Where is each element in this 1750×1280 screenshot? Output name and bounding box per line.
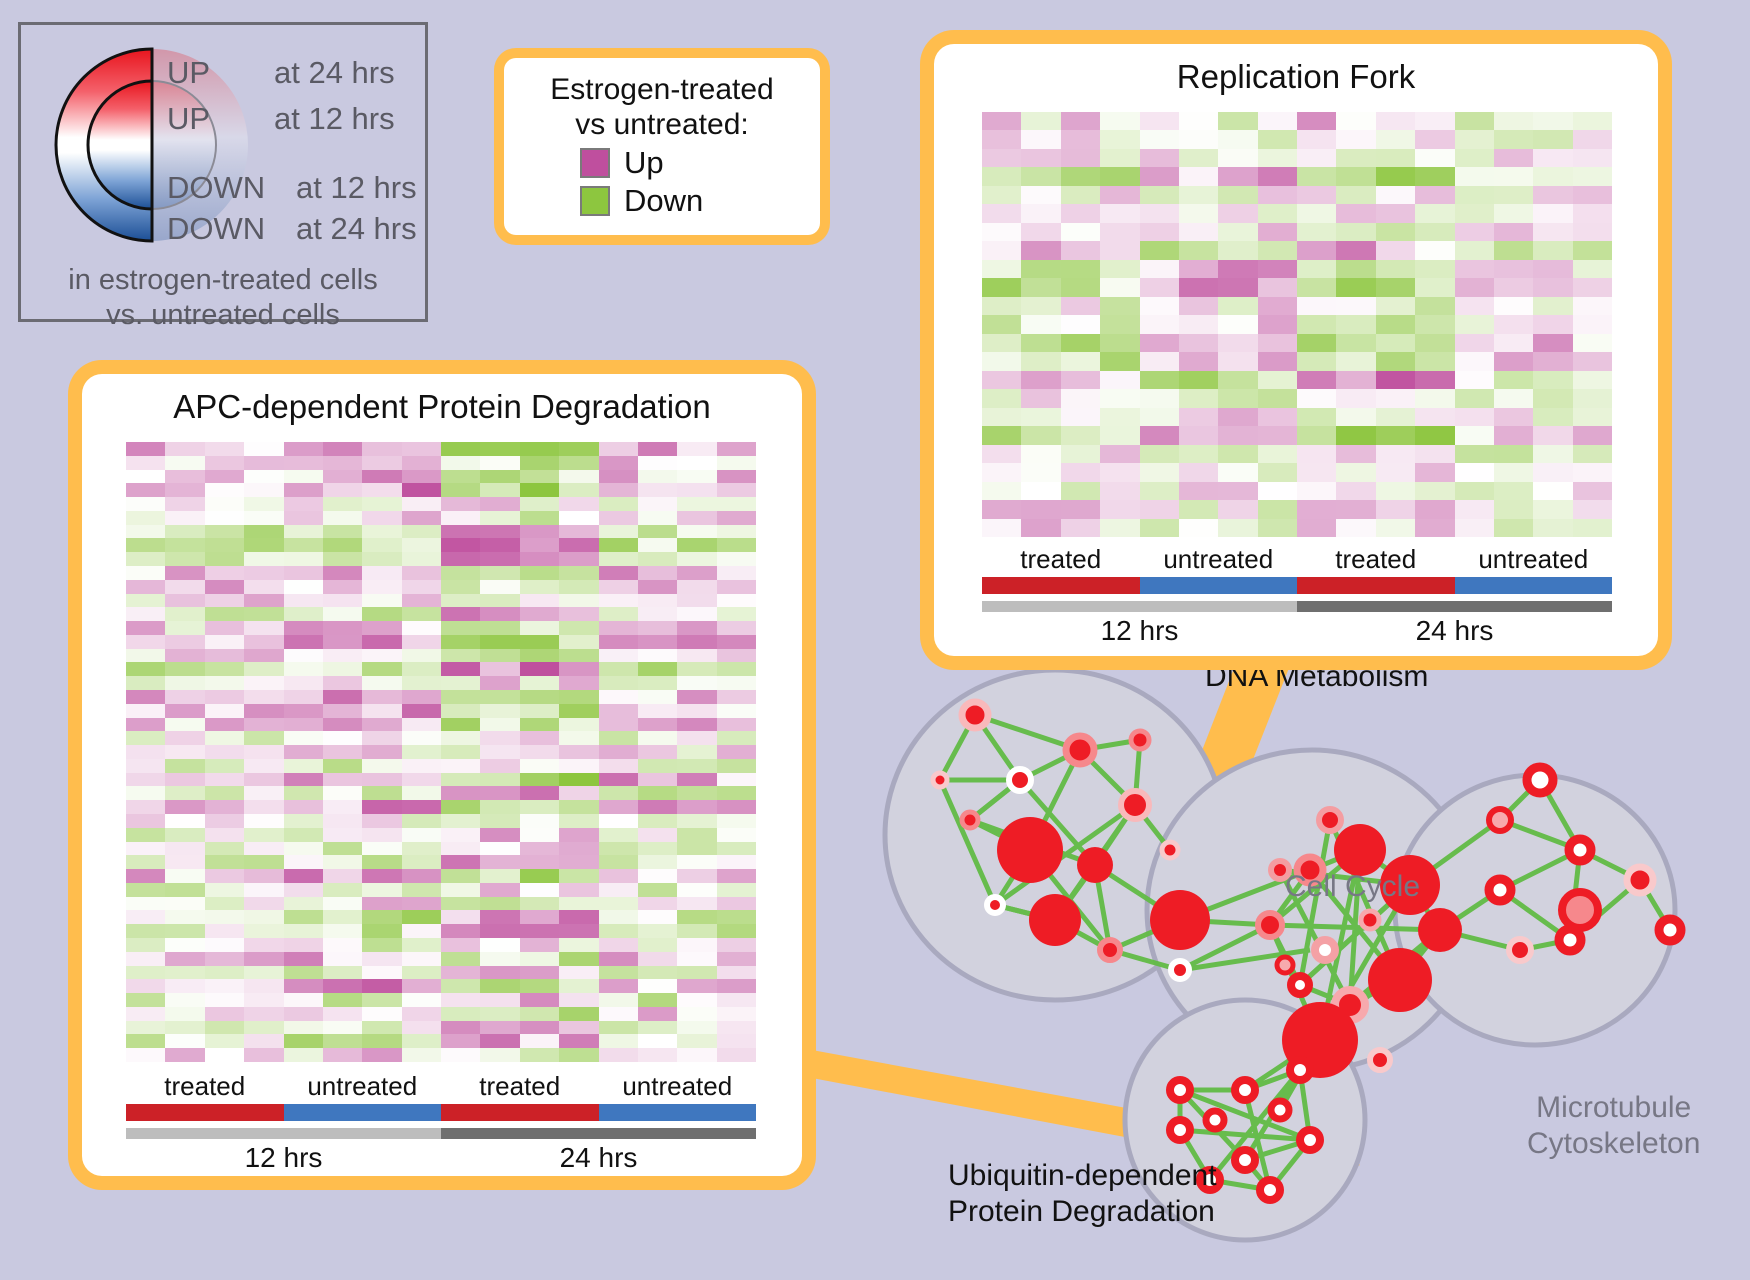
heatmap-cell <box>677 1021 716 1035</box>
heatmap-cell <box>1021 371 1060 389</box>
heatmap-cell <box>520 745 559 759</box>
heatmap-cell <box>677 814 716 828</box>
heatmap-cell <box>599 814 638 828</box>
heatmap-cell <box>1061 482 1100 500</box>
heatmap-cell <box>402 607 441 621</box>
heatmap-cell <box>677 676 716 690</box>
heatmap-cell <box>480 731 519 745</box>
heatmap-cell <box>362 759 401 773</box>
heatmap-cell <box>559 1048 598 1062</box>
heatmap-cell <box>323 607 362 621</box>
heatmap-cell <box>480 842 519 856</box>
heatmap-cell <box>402 1034 441 1048</box>
heatmap-cell <box>1455 389 1494 407</box>
heatmap-cell <box>205 580 244 594</box>
heatmap-cell <box>1179 371 1218 389</box>
heatmap-cell <box>205 993 244 1007</box>
heatmap-cell <box>1297 315 1336 333</box>
heatmap-cell <box>1376 297 1415 315</box>
heatmap-cell <box>284 952 323 966</box>
heatmap-cell <box>638 552 677 566</box>
heatmap-cell <box>441 718 480 732</box>
heatmap-cell <box>165 470 204 484</box>
heatmap-cell <box>362 1048 401 1062</box>
heatmap-cell <box>323 621 362 635</box>
heatmap-cell <box>1179 408 1218 426</box>
heatmap-cell <box>599 966 638 980</box>
heatmap-cell <box>1218 186 1257 204</box>
heatmap-cell <box>1218 500 1257 518</box>
heatmap-cell <box>638 511 677 525</box>
heatmap-cell <box>638 952 677 966</box>
heatmap-cell <box>362 552 401 566</box>
heatmap-cell <box>1573 186 1612 204</box>
heatmap-cell <box>323 483 362 497</box>
panel-title-replication-fork: Replication Fork <box>934 44 1658 96</box>
heatmap-cell <box>165 580 204 594</box>
heatmap-cell <box>599 1007 638 1021</box>
heatmap-cell <box>638 1007 677 1021</box>
heatmap-cell <box>717 731 756 745</box>
heatmap-cell <box>126 442 165 456</box>
heatmap-cell <box>441 676 480 690</box>
heatmap-cell <box>1258 500 1297 518</box>
heatmap-cell <box>126 759 165 773</box>
heatmap-cell <box>1533 130 1572 148</box>
heatmap-cell <box>599 621 638 635</box>
heatmap-cell <box>1218 445 1257 463</box>
heatmap-cell <box>1061 315 1100 333</box>
heatmap-cell <box>1455 500 1494 518</box>
heatmap-cell <box>1258 389 1297 407</box>
heatmap-cell <box>1336 463 1375 481</box>
heatmap-cell <box>1376 167 1415 185</box>
heatmap-cell <box>323 1048 362 1062</box>
heatmap-cell <box>126 1007 165 1021</box>
heatmap-cell <box>599 979 638 993</box>
heatmap-cell <box>402 910 441 924</box>
heatmap-cell <box>126 525 165 539</box>
heatmap-cell <box>1100 519 1139 537</box>
heatmap-cell <box>244 566 283 580</box>
legend-key-up-24: UP <box>167 55 210 91</box>
heatmap-cell <box>323 1007 362 1021</box>
heatmap-cell <box>1258 278 1297 296</box>
heatmap-cell <box>1297 352 1336 370</box>
cluster-label-ubiquitin-protein-degradation: Ubiquitin-dependent Protein Degradation <box>948 1158 1217 1230</box>
heatmap-cell <box>1179 315 1218 333</box>
time-label-24: 24 hrs <box>441 1142 756 1174</box>
heatmap-cell <box>677 483 716 497</box>
heatmap-cell <box>638 773 677 787</box>
heatmap-cell <box>205 442 244 456</box>
up-color-swatch <box>580 148 610 178</box>
heatmap-cell <box>1455 463 1494 481</box>
panel-apc-dependent-protein-degradation[interactable]: APC-dependent Protein Degradation treate… <box>68 360 816 1190</box>
heatmap-cell <box>717 828 756 842</box>
heatmap-cell <box>1179 260 1218 278</box>
bar-untreated-12 <box>1140 577 1298 594</box>
heatmap-cell <box>402 483 441 497</box>
heatmap-cell <box>638 635 677 649</box>
heatmap-cell <box>402 814 441 828</box>
heatmap-cell <box>677 800 716 814</box>
heatmap-cell <box>638 869 677 883</box>
heatmap-cell <box>480 511 519 525</box>
heatmap-cell <box>1376 389 1415 407</box>
heatmap-cell <box>638 621 677 635</box>
heatmap-cell <box>1336 241 1375 259</box>
heatmap-cell <box>165 676 204 690</box>
heatmap-cell <box>677 786 716 800</box>
heatmap-cell <box>480 497 519 511</box>
heatmap-cell <box>284 745 323 759</box>
heatmap-cell <box>1336 352 1375 370</box>
heatmap-cell <box>165 456 204 470</box>
heatmap-cell <box>717 1034 756 1048</box>
heatmap-cell <box>1336 334 1375 352</box>
heatmap-cell <box>677 731 716 745</box>
heatmap-cell <box>1100 223 1139 241</box>
heatmap-cell <box>244 938 283 952</box>
heatmap-cell <box>244 1034 283 1048</box>
heatmap-cell <box>638 649 677 663</box>
heatmap-cell <box>244 607 283 621</box>
heatmap-cell <box>362 828 401 842</box>
heatmap-cell <box>717 607 756 621</box>
heatmap-cell <box>1021 186 1060 204</box>
heatmap-cell <box>126 842 165 856</box>
heatmap-cell <box>126 731 165 745</box>
heatmap-cell <box>520 456 559 470</box>
heatmap-cell <box>1297 278 1336 296</box>
updown-title-line-1: Estrogen-treated <box>514 72 810 107</box>
heatmap-cell <box>323 662 362 676</box>
heatmap-cell <box>677 525 716 539</box>
heatmap-cell <box>638 855 677 869</box>
heatmap-cell <box>1258 204 1297 222</box>
heatmap-cell <box>244 594 283 608</box>
heatmap-cell <box>126 800 165 814</box>
heatmap-cell <box>982 352 1021 370</box>
heatmap-cell <box>599 910 638 924</box>
heatmap-cell <box>244 800 283 814</box>
heatmap-cell <box>559 704 598 718</box>
heatmap-cell <box>1297 445 1336 463</box>
heatmap-cell <box>1533 241 1572 259</box>
heatmap-cell <box>1061 167 1100 185</box>
heatmap-cell <box>599 773 638 787</box>
heatmap-cell <box>1218 130 1257 148</box>
heatmap-cell <box>1376 315 1415 333</box>
heatmap-cell <box>126 662 165 676</box>
heatmap-cell <box>599 483 638 497</box>
bar-treated-12 <box>126 1104 284 1121</box>
heatmap-cell <box>717 938 756 952</box>
heatmap-cell <box>1336 149 1375 167</box>
heatmap-cell <box>559 938 598 952</box>
heatmap-cell <box>165 525 204 539</box>
heatmap-cell <box>205 800 244 814</box>
heatmap-cell <box>1573 500 1612 518</box>
heatmap-cell <box>638 662 677 676</box>
heatmap-cell <box>1179 186 1218 204</box>
heatmap-cell <box>982 186 1021 204</box>
heatmap-cell <box>1376 241 1415 259</box>
heatmap-cell <box>520 828 559 842</box>
heatmap-cell <box>559 690 598 704</box>
heatmap-cell <box>441 828 480 842</box>
heatmap-cell <box>1533 463 1572 481</box>
heatmap-cell <box>1336 130 1375 148</box>
heatmap-cell <box>1258 352 1297 370</box>
heatmap-cell <box>480 993 519 1007</box>
heatmap-cell <box>1297 297 1336 315</box>
heatmap-cell <box>323 1021 362 1035</box>
time-bar-12 <box>126 1128 441 1139</box>
heatmap-cell <box>677 456 716 470</box>
heatmap-cell <box>244 924 283 938</box>
heatmap-cell <box>126 1034 165 1048</box>
heatmap-cell <box>441 842 480 856</box>
heatmap-cell <box>362 483 401 497</box>
heatmap-cell <box>520 883 559 897</box>
heatmap-cell <box>205 607 244 621</box>
heatmap-cell <box>205 855 244 869</box>
heatmap-cell <box>480 938 519 952</box>
time-bar-12 <box>982 601 1297 612</box>
heatmap-cell <box>480 718 519 732</box>
heatmap-cell <box>126 483 165 497</box>
heatmap-cell <box>441 552 480 566</box>
heatmap-cell <box>126 966 165 980</box>
heatmap-cell <box>126 993 165 1007</box>
heatmap-cell <box>205 745 244 759</box>
heatmap-cell <box>1415 241 1454 259</box>
heatmap-cell <box>1573 278 1612 296</box>
heatmap-cell <box>1218 223 1257 241</box>
heatmap-cell <box>1573 445 1612 463</box>
heatmap-cell <box>1061 371 1100 389</box>
heatmap-cell <box>1100 241 1139 259</box>
heatmap-cell <box>1140 389 1179 407</box>
heatmap-cell <box>165 594 204 608</box>
heatmap-cell <box>1494 112 1533 130</box>
heatmap-cell <box>677 704 716 718</box>
heatmap-cell <box>638 842 677 856</box>
heatmap-cell <box>1415 186 1454 204</box>
heatmap-cell <box>1100 389 1139 407</box>
heatmap-cell <box>1415 482 1454 500</box>
heatmap-cell <box>1297 130 1336 148</box>
heatmap-cell <box>1100 204 1139 222</box>
heatmap-cell <box>284 676 323 690</box>
heatmap-cell <box>205 662 244 676</box>
heatmap-cell <box>638 718 677 732</box>
heatmap-cell <box>284 635 323 649</box>
legend-text-up-12: at 12 hrs <box>274 101 395 137</box>
heatmap-cell <box>323 690 362 704</box>
heatmap-cell <box>638 456 677 470</box>
heatmap-cell <box>559 497 598 511</box>
heatmap-cell <box>323 828 362 842</box>
heatmap-cell <box>638 483 677 497</box>
heatmap-cell <box>441 538 480 552</box>
heatmap-cell <box>717 759 756 773</box>
heatmap-cell <box>323 442 362 456</box>
heatmap-cell <box>205 924 244 938</box>
heatmap-cell <box>1336 167 1375 185</box>
heatmap-cell <box>441 704 480 718</box>
heatmap-cell <box>1376 260 1415 278</box>
heatmap-cell <box>1494 204 1533 222</box>
heatmap-cell <box>1100 500 1139 518</box>
heatmap-cell <box>165 800 204 814</box>
heatmap-cell <box>165 497 204 511</box>
heatmap-cell <box>677 993 716 1007</box>
heatmap-cell <box>1140 278 1179 296</box>
heatmap-cell <box>1533 186 1572 204</box>
heatmap-cell <box>717 483 756 497</box>
heatmap-cell <box>1455 315 1494 333</box>
heatmap-cell <box>1415 278 1454 296</box>
heatmap-cell <box>1100 426 1139 444</box>
heatmap-cell <box>1297 519 1336 537</box>
heatmap-cell <box>1494 241 1533 259</box>
heatmap-cell <box>362 938 401 952</box>
heatmap-cell <box>520 855 559 869</box>
heatmap-cell <box>126 897 165 911</box>
heatmap-cell <box>1021 408 1060 426</box>
heatmap-cell <box>205 511 244 525</box>
heatmap-cell <box>1376 408 1415 426</box>
heatmap-cell <box>480 635 519 649</box>
heatmap-cell <box>402 538 441 552</box>
heatmap-cell <box>126 649 165 663</box>
heatmap-cell <box>205 1007 244 1021</box>
heatmap-cell <box>559 897 598 911</box>
heatmap-cell <box>559 649 598 663</box>
heatmap-cell <box>599 883 638 897</box>
heatmap-cell <box>362 993 401 1007</box>
heatmap-cell <box>1336 297 1375 315</box>
heatmap-cell <box>165 938 204 952</box>
heatmap-cell <box>244 993 283 1007</box>
heatmap-cell <box>717 511 756 525</box>
legend-key-down-24: DOWN <box>167 211 265 247</box>
heatmap-cell <box>165 511 204 525</box>
heatmap-cell <box>1573 334 1612 352</box>
heatmap-cell <box>205 525 244 539</box>
group-labels-apc: treated untreated treated untreated <box>126 1071 756 1102</box>
heatmap-cell <box>520 910 559 924</box>
heatmap-cell <box>362 842 401 856</box>
heatmap-cell <box>717 704 756 718</box>
heatmap-cell <box>717 497 756 511</box>
heatmap-cell <box>1376 334 1415 352</box>
heatmap-cell <box>599 594 638 608</box>
heatmap-cell <box>402 511 441 525</box>
heatmap-cell <box>1494 482 1533 500</box>
heatmap-cell <box>1100 334 1139 352</box>
heatmap-cell <box>323 979 362 993</box>
heatmap-cell <box>1455 130 1494 148</box>
heatmap-cell <box>677 511 716 525</box>
heatmap-cell <box>1573 426 1612 444</box>
heatmap-cell <box>1258 130 1297 148</box>
heatmap-cell <box>982 482 1021 500</box>
heatmap-cell <box>1258 445 1297 463</box>
heatmap-cell <box>1494 278 1533 296</box>
heatmap-cell <box>165 731 204 745</box>
heatmap-cell <box>165 718 204 732</box>
heatmap-cell <box>323 745 362 759</box>
heatmap-cell <box>1061 445 1100 463</box>
heatmap-cell <box>1179 241 1218 259</box>
heatmap-cell <box>402 952 441 966</box>
heatmap-cell <box>717 621 756 635</box>
heatmap-cell <box>244 649 283 663</box>
heatmap-cell <box>717 470 756 484</box>
heatmap-cell <box>480 649 519 663</box>
heatmap-cell <box>205 1021 244 1035</box>
heatmap-cell <box>559 621 598 635</box>
heatmap-cell <box>599 676 638 690</box>
heatmap-cell <box>126 979 165 993</box>
heatmap-cell <box>205 538 244 552</box>
heatmap-cell <box>244 483 283 497</box>
heatmap-cell <box>165 704 204 718</box>
heatmap-cell <box>205 869 244 883</box>
heatmap-cell <box>244 979 283 993</box>
panel-replication-fork[interactable]: Replication Fork treated untreated treat… <box>920 30 1672 670</box>
heatmap-cell <box>1573 130 1612 148</box>
heatmap-cell <box>284 649 323 663</box>
heatmap-cell <box>599 993 638 1007</box>
heatmap-cell <box>677 773 716 787</box>
heatmap-cell <box>1179 297 1218 315</box>
heatmap-cell <box>284 855 323 869</box>
heatmap-cell <box>402 442 441 456</box>
legend-label-up: Up <box>624 145 744 181</box>
heatmap-cell <box>441 607 480 621</box>
heatmap-cell <box>362 979 401 993</box>
heatmap-cell <box>1100 260 1139 278</box>
heatmap-cell <box>599 731 638 745</box>
heatmap-cell <box>1061 297 1100 315</box>
heatmap-cell <box>1297 112 1336 130</box>
heatmap-cell <box>1140 463 1179 481</box>
heatmap-cell <box>165 635 204 649</box>
heatmap-cell <box>126 786 165 800</box>
legend-item-down: Down <box>514 183 810 219</box>
heatmap-cell <box>441 979 480 993</box>
heatmap-cell <box>717 966 756 980</box>
heatmap-cell <box>244 1021 283 1035</box>
heatmap-cell <box>1021 112 1060 130</box>
heatmap-cell <box>402 745 441 759</box>
heatmap-cell <box>441 497 480 511</box>
legend-text-down-24: at 24 hrs <box>296 211 417 247</box>
heatmap-cell <box>480 828 519 842</box>
heatmap-cell <box>520 442 559 456</box>
heatmap-cell <box>1061 223 1100 241</box>
heatmap-cell <box>677 607 716 621</box>
heatmap-cell <box>1061 408 1100 426</box>
heatmap-cell <box>165 690 204 704</box>
heatmap-cell <box>599 456 638 470</box>
heatmap-cell <box>126 566 165 580</box>
